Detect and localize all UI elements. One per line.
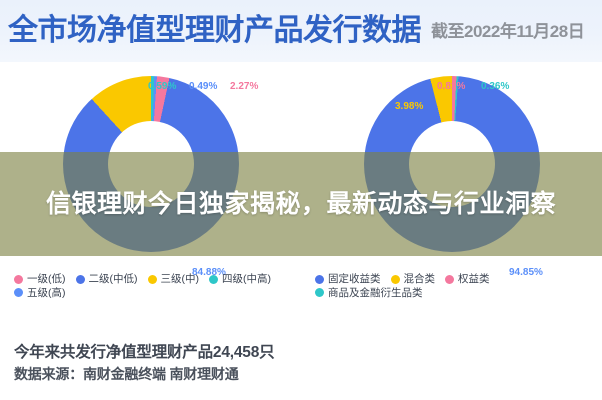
footer-block: 今年来共发行净值型理财产品24,458只 数据来源：南财金融终端 南财理财通 xyxy=(0,335,602,400)
legend-color-swatch-icon xyxy=(76,275,85,284)
legend-item-label: 商品及金融衍生品类 xyxy=(328,288,423,299)
legend-item[interactable]: 固定收益类 xyxy=(315,274,381,285)
donut-slice-label: 0.81% xyxy=(437,82,465,92)
legend-item[interactable]: 商品及金融衍生品类 xyxy=(315,288,423,299)
legend-item[interactable]: 混合类 xyxy=(391,274,436,285)
donut-slice-label: 3.98% xyxy=(395,102,423,112)
donut-slice-label: 11.78% xyxy=(100,102,133,112)
legend-color-swatch-icon xyxy=(209,275,218,284)
header-date-range: 截至2022年11月28日 xyxy=(431,23,584,40)
legend-item[interactable]: 权益类 xyxy=(445,274,490,285)
donut-slice-label: 0.49% xyxy=(189,82,217,92)
legend-item[interactable]: 五级(高) xyxy=(14,288,66,299)
page-title: 全市场净值型理财产品发行数据 xyxy=(8,16,421,46)
donut-slice-label: 0.36% xyxy=(481,82,509,92)
donut-slice-label: 0.59% xyxy=(148,82,176,92)
legend-color-swatch-icon xyxy=(391,275,400,284)
legend-color-swatch-icon xyxy=(148,275,157,284)
legend-color-swatch-icon xyxy=(14,275,23,284)
legend-item-label: 一级(低) xyxy=(27,274,66,285)
legend-item-label: 四级(中高) xyxy=(222,274,271,285)
legend-item-label: 二级(中低) xyxy=(89,274,138,285)
legend-item-label: 五级(高) xyxy=(27,288,66,299)
legend-product-type: 固定收益类混合类权益类商品及金融衍生品类 xyxy=(301,274,602,298)
legend-item[interactable]: 三级(中) xyxy=(148,274,200,285)
footer-total-issued: 今年来共发行净值型理财产品24,458只 xyxy=(14,341,602,364)
legend-color-swatch-icon xyxy=(315,288,324,297)
legend-item[interactable]: 一级(低) xyxy=(14,274,66,285)
infographic-root: 全市场净值型理财产品发行数据 截至2022年11月28日 0.59%0.49%2… xyxy=(0,0,602,400)
header-banner: 全市场净值型理财产品发行数据 截至2022年11月28日 xyxy=(0,0,602,62)
legend-item-label: 混合类 xyxy=(404,274,436,285)
legend-color-swatch-icon xyxy=(445,275,454,284)
legend-item-label: 三级(中) xyxy=(161,274,200,285)
footer-data-source: 数据来源：南财金融终端 南财理财通 xyxy=(14,364,602,385)
legend-item-label: 固定收益类 xyxy=(328,274,381,285)
overlay-caption-text: 信银理财今日独家揭秘，最新动态与行业洞察 xyxy=(31,188,571,221)
legend-risk-level: 一级(低)二级(中低)三级(中)四级(中高)五级(高) xyxy=(0,274,301,298)
overlay-caption-band: 信银理财今日独家揭秘，最新动态与行业洞察 xyxy=(0,152,602,256)
legend-color-swatch-icon xyxy=(315,275,324,284)
legend-color-swatch-icon xyxy=(14,288,23,297)
legend-item[interactable]: 四级(中高) xyxy=(209,274,271,285)
legend-item-label: 权益类 xyxy=(458,274,490,285)
legend-item[interactable]: 二级(中低) xyxy=(76,274,138,285)
donut-slice-label: 2.27% xyxy=(230,82,258,92)
